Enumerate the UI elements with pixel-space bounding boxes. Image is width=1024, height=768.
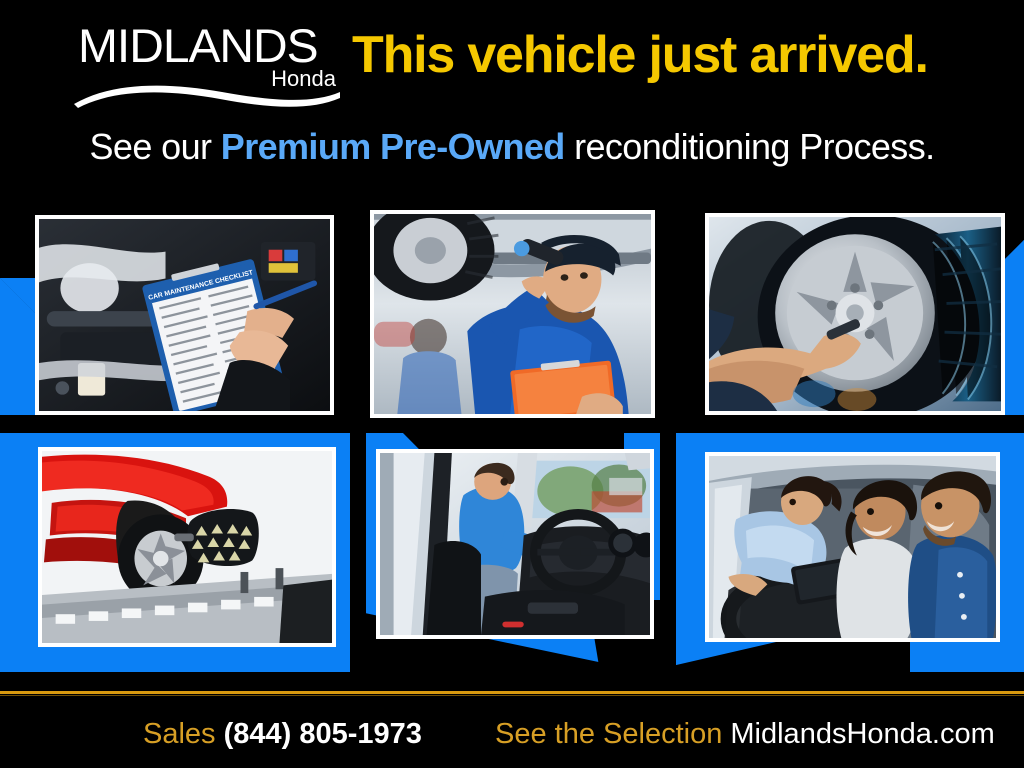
engine-bay-artwork: CAR MAINTENANCE CHECKLIST xyxy=(39,219,330,411)
sales-contact: Sales (844) 805-1973 xyxy=(143,714,422,754)
subheadline-prefix: See our xyxy=(89,126,220,167)
wheel-alignment-artwork xyxy=(42,451,332,643)
selection-contact: See the Selection MidlandsHonda.com xyxy=(495,714,995,754)
undercarriage-artwork xyxy=(374,214,651,414)
subheadline: See our Premium Pre-Owned reconditioning… xyxy=(0,124,1024,170)
photo-undercarriage-inspection xyxy=(370,210,655,418)
photo-customer-delivery xyxy=(705,452,1000,642)
advertisement-banner: MIDLANDS Honda This vehicle just arrived… xyxy=(0,0,1024,768)
selection-label: See the Selection xyxy=(495,718,722,750)
footer-divider xyxy=(0,691,1024,694)
logo-wordmark: MIDLANDS xyxy=(78,22,318,69)
wheel-tire-artwork xyxy=(709,217,1001,411)
website-link[interactable]: MidlandsHonda.com xyxy=(730,718,994,750)
footer-divider-shadow xyxy=(0,695,1024,696)
photo-wheel-alignment xyxy=(38,447,336,647)
sales-phone[interactable]: (844) 805-1973 xyxy=(224,718,422,750)
footer: Sales (844) 805-1973 See the Selection M… xyxy=(0,714,1024,768)
customer-delivery-artwork xyxy=(709,456,996,638)
brand-logo[interactable]: MIDLANDS Honda xyxy=(72,22,342,102)
photo-wheel-tire-inspection xyxy=(705,213,1005,415)
headline: This vehicle just arrived. xyxy=(352,24,928,86)
interior-detailing-artwork xyxy=(380,453,650,635)
photo-interior-detailing xyxy=(376,449,654,639)
sales-label: Sales xyxy=(143,718,216,750)
logo-swoosh-icon xyxy=(72,78,342,108)
header: MIDLANDS Honda This vehicle just arrived… xyxy=(0,0,1024,110)
photo-engine-bay-checklist: CAR MAINTENANCE CHECKLIST xyxy=(35,215,334,415)
subheadline-suffix: reconditioning Process. xyxy=(565,126,935,167)
subheadline-highlight: Premium Pre-Owned xyxy=(221,126,565,167)
